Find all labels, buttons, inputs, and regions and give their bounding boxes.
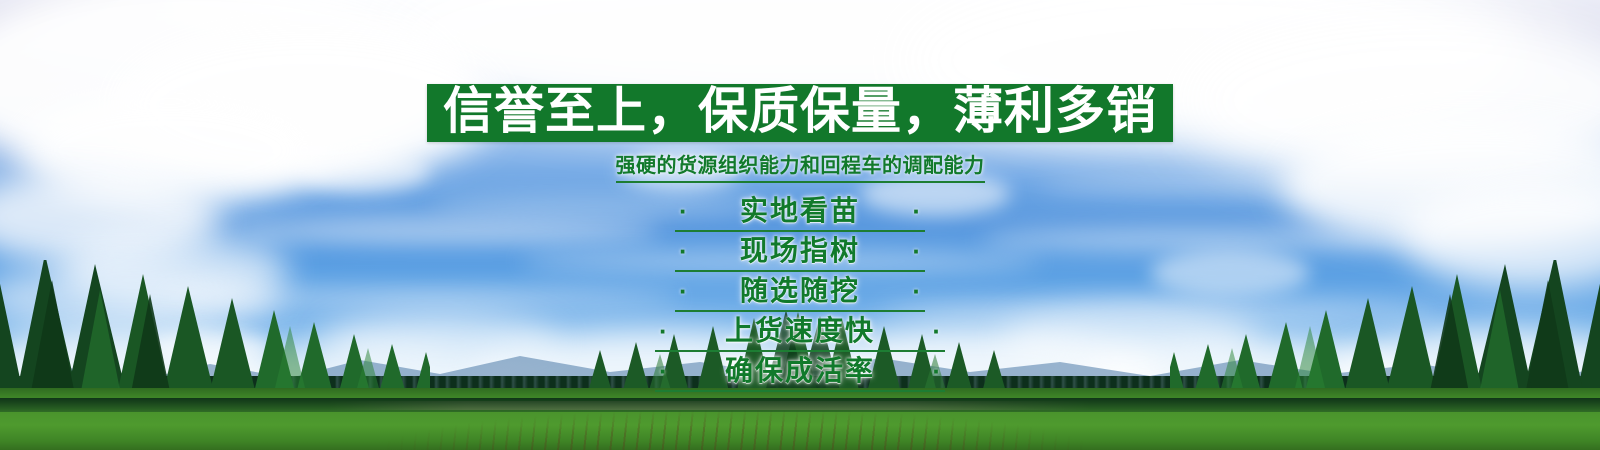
feature-label-1: 实地看苗 [692,195,909,227]
feature-item-1[interactable]: · 实地看苗 · [675,194,925,232]
feature-list: · 实地看苗 · · 现场指树 · · 随选随挖 · · 上货速度快 · · [655,194,945,394]
feature-item-5[interactable]: · 确保成活率 · [655,354,945,392]
banner-content: 信誉至上，保质保量，薄利多销 强硬的货源组织能力和回程车的调配能力 · 实地看苗… [0,0,1600,450]
bullet-dot-left-icon: · [675,198,692,224]
bullet-dot-left-icon: · [655,358,672,384]
bullet-dot-right-icon: · [928,318,945,344]
headline-text: 信誉至上，保质保量，薄利多销 [443,86,1157,136]
bullet-dot-left-icon: · [675,278,692,304]
bullet-dot-right-icon: · [928,358,945,384]
headline-banner: 信誉至上，保质保量，薄利多销 [427,84,1173,142]
feature-item-3[interactable]: · 随选随挖 · [675,274,925,312]
bullet-dot-right-icon: · [908,198,925,224]
feature-label-2: 现场指树 [692,235,909,267]
feature-item-2[interactable]: · 现场指树 · [675,234,925,272]
subtitle-text: 强硬的货源组织能力和回程车的调配能力 [616,149,985,183]
promo-banner: 信誉至上，保质保量，薄利多销 强硬的货源组织能力和回程车的调配能力 · 实地看苗… [0,0,1600,450]
feature-item-4[interactable]: · 上货速度快 · [655,314,945,352]
feature-label-4: 上货速度快 [672,315,929,347]
bullet-dot-left-icon: · [675,238,692,264]
feature-label-5: 确保成活率 [672,355,929,387]
bullet-dot-right-icon: · [908,278,925,304]
bullet-dot-right-icon: · [908,238,925,264]
feature-label-3: 随选随挖 [692,275,909,307]
bullet-dot-left-icon: · [655,318,672,344]
